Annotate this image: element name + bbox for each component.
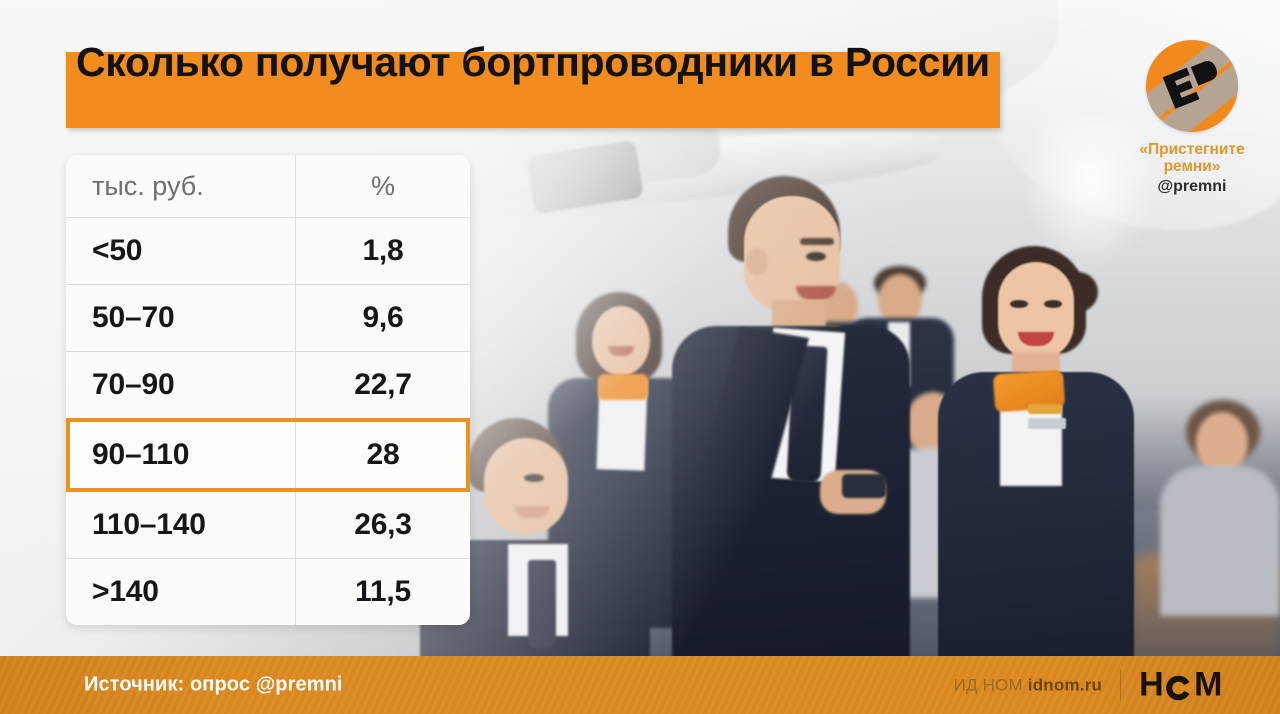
cell-range: >140 — [66, 559, 296, 626]
table-row: <50 1,8 — [66, 218, 470, 285]
logo-caption-line2: ремни» — [1117, 158, 1267, 175]
cell-percent: 26,3 — [296, 490, 471, 559]
cell-percent: 9,6 — [296, 285, 471, 352]
table-row-highlighted: 90–110 28 — [66, 420, 470, 490]
cell-percent: 22,7 — [296, 352, 471, 421]
cell-range: 70–90 — [66, 352, 296, 421]
publisher-site-label: ИД НОМ idnom.ru — [954, 675, 1103, 695]
footer-divider — [1120, 670, 1121, 700]
seatbelt-buckle-icon — [1146, 40, 1238, 132]
page-title: Сколько получают бортпроводники в России — [76, 40, 1016, 86]
cell-range: <50 — [66, 218, 296, 285]
infographic-canvas: Сколько получают бортпроводники в России… — [0, 0, 1280, 714]
cell-percent: 28 — [296, 420, 471, 490]
column-header-percent: % — [296, 155, 471, 218]
nom-letter-m: М — [1194, 666, 1222, 705]
source-note: Источник: опрос @premni — [84, 674, 343, 697]
table-row: >140 11,5 — [66, 559, 470, 626]
nom-letter-o-icon — [1165, 672, 1192, 699]
column-header-range: тыс. руб. — [66, 155, 296, 218]
table-row: 50–70 9,6 — [66, 285, 470, 352]
footer-bar: Источник: опрос @premni ИД НОМ idnom.ru … — [0, 656, 1280, 714]
cell-percent: 1,8 — [296, 218, 471, 285]
nom-brand-logo: Н М — [1139, 666, 1222, 705]
cell-range: 110–140 — [66, 490, 296, 559]
table-row: 110–140 26,3 — [66, 490, 470, 559]
publisher-site[interactable]: idnom.ru — [1028, 675, 1102, 694]
cell-percent: 11,5 — [296, 559, 471, 626]
publisher-prefix: ИД НОМ — [954, 675, 1028, 694]
publisher-block: ИД НОМ idnom.ru Н М — [954, 666, 1222, 705]
nom-letter-n: Н — [1139, 666, 1163, 705]
table-header-row: тыс. руб. % — [66, 155, 470, 218]
logo-handle: @premni — [1117, 178, 1267, 196]
logo-caption-line1: «Пристегните — [1117, 141, 1267, 158]
salary-distribution-table: тыс. руб. % <50 1,8 50–70 9,6 70–90 22,7 — [66, 155, 470, 625]
table-row: 70–90 22,7 — [66, 352, 470, 421]
cell-range: 50–70 — [66, 285, 296, 352]
channel-logo-block: «Пристегните ремни» @premni — [1117, 40, 1267, 196]
cell-range: 90–110 — [66, 420, 296, 490]
logo-caption: «Пристегните ремни» — [1117, 141, 1267, 176]
